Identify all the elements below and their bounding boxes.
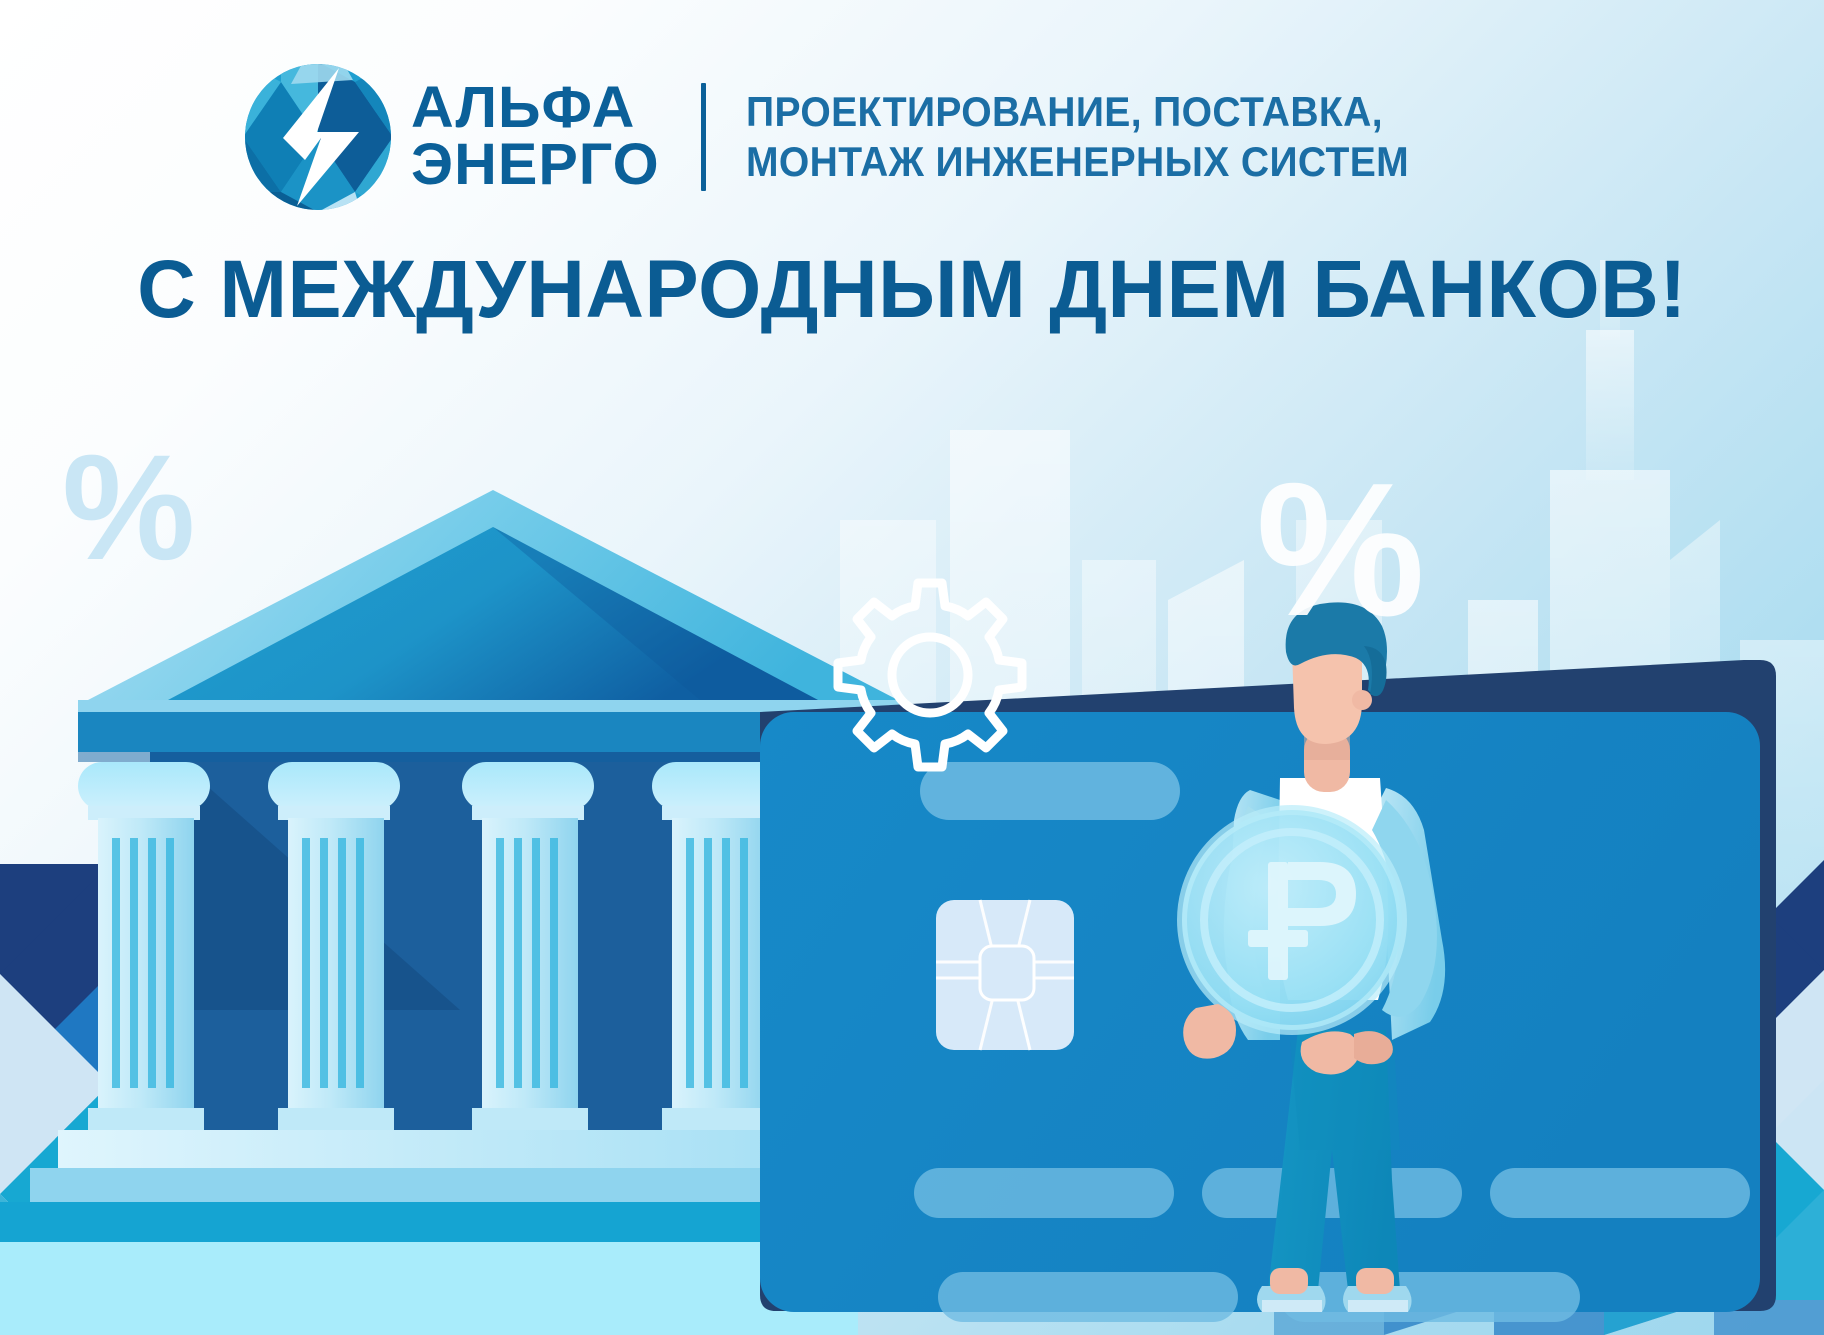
logo-divider xyxy=(701,83,706,191)
percent-symbol-right: % xyxy=(1256,455,1425,645)
tagline-line-1: ПРОЕКТИРОВАНИЕ, ПОСТАВКА, xyxy=(746,87,1409,137)
brand-logo[interactable]: АЛЬФА ЭНЕРГО ПРОЕКТИРОВАНИЕ, ПОСТАВКА, М… xyxy=(243,62,1459,212)
brand-word-bottom: ЭНЕРГО xyxy=(411,137,660,194)
alfa-energo-logo-mark xyxy=(243,62,393,212)
company-tagline: ПРОЕКТИРОВАНИЕ, ПОСТАВКА, МОНТАЖ ИНЖЕНЕР… xyxy=(746,87,1459,186)
poster-canvas: АЛЬФА ЭНЕРГО ПРОЕКТИРОВАНИЕ, ПОСТАВКА, М… xyxy=(0,0,1824,1335)
page-title: С МЕЖДУНАРОДНЫМ ДНЕМ БАНКОВ! xyxy=(9,243,1815,337)
header: АЛЬФА ЭНЕРГО ПРОЕКТИРОВАНИЕ, ПОСТАВКА, М… xyxy=(0,0,1824,235)
brand-word-top: АЛЬФА xyxy=(411,80,660,137)
tagline-line-2: МОНТАЖ ИНЖЕНЕРНЫХ СИСТЕМ xyxy=(746,137,1409,187)
brand-wordmark: АЛЬФА ЭНЕРГО xyxy=(411,80,655,194)
percent-symbol-left: % xyxy=(62,432,195,582)
